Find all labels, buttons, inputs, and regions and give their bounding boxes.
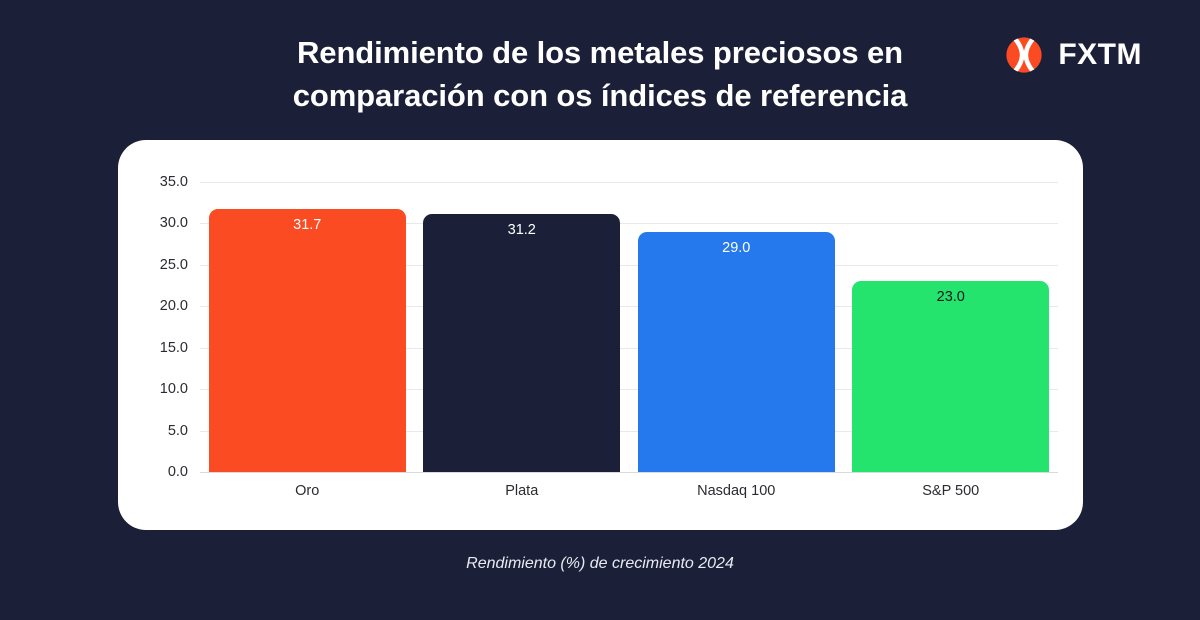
- infographic-page: Rendimiento de los metales preciosos en …: [0, 0, 1200, 620]
- y-axis-tick-label: 35.0: [160, 175, 188, 190]
- brand-logo: FXTM: [1003, 34, 1142, 76]
- y-axis-tick-label: 0.0: [168, 465, 188, 480]
- bar-value-label: 31.2: [423, 223, 620, 238]
- bar-value-label: 23.0: [852, 290, 1049, 305]
- y-axis-tick-label: 10.0: [160, 382, 188, 397]
- title-line-1: Rendimiento de los metales preciosos en: [190, 31, 1010, 74]
- chart-card: 0.05.010.015.020.025.030.035.0 31.7Oro31…: [118, 140, 1083, 530]
- bar-slot: 31.7Oro: [200, 182, 415, 472]
- page-title: Rendimiento de los metales preciosos en …: [190, 31, 1010, 117]
- chart-plot-area: 0.05.010.015.020.025.030.035.0 31.7Oro31…: [200, 182, 1058, 472]
- gridline: 0.0: [200, 472, 1058, 473]
- bar-value-label: 29.0: [638, 241, 835, 256]
- y-axis-tick-label: 25.0: [160, 258, 188, 273]
- chart-caption: Rendimiento (%) de crecimiento 2024: [0, 556, 1200, 572]
- bar-slot: 31.2Plata: [415, 182, 630, 472]
- x-axis-tick-label: Oro: [209, 484, 406, 499]
- bar[interactable]: 23.0S&P 500: [852, 281, 1049, 472]
- x-axis-tick-label: Plata: [423, 484, 620, 499]
- bar-slot: 29.0Nasdaq 100: [629, 182, 844, 472]
- y-axis-tick-label: 20.0: [160, 299, 188, 314]
- bar-slot: 23.0S&P 500: [844, 182, 1059, 472]
- bar-value-label: 31.7: [209, 218, 406, 233]
- title-line-2: comparación con os índices de referencia: [190, 74, 1010, 117]
- y-axis-tick-label: 15.0: [160, 340, 188, 355]
- brand-name: FXTM: [1058, 40, 1142, 70]
- bar-series: 31.7Oro31.2Plata29.0Nasdaq 10023.0S&P 50…: [200, 182, 1058, 472]
- y-axis-tick-label: 5.0: [168, 423, 188, 438]
- y-axis-tick-label: 30.0: [160, 216, 188, 231]
- bar[interactable]: 29.0Nasdaq 100: [638, 232, 835, 472]
- header: Rendimiento de los metales preciosos en …: [0, 0, 1200, 140]
- x-axis-tick-label: Nasdaq 100: [638, 484, 835, 499]
- x-axis-tick-label: S&P 500: [852, 484, 1049, 499]
- bar[interactable]: 31.2Plata: [423, 214, 620, 473]
- bar[interactable]: 31.7Oro: [209, 209, 406, 472]
- fxtm-logo-icon: [1003, 34, 1045, 76]
